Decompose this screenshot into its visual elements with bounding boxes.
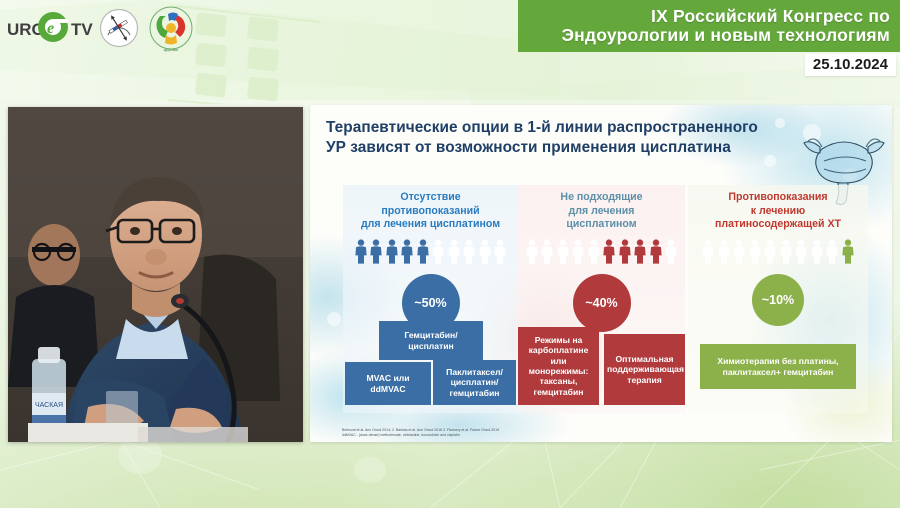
person-icon bbox=[571, 239, 585, 264]
person-icon bbox=[385, 239, 399, 264]
box-mvac: MVAC или ddMVAC bbox=[345, 362, 431, 405]
person-icon bbox=[717, 239, 731, 264]
column-2-heading-line-1: Не подходящие bbox=[518, 191, 685, 205]
person-icon bbox=[664, 239, 678, 264]
person-icon bbox=[431, 239, 445, 264]
person-icon bbox=[462, 239, 476, 264]
person-icon bbox=[701, 239, 715, 264]
person-icon bbox=[633, 239, 647, 264]
date-badge: 25.10.2024 bbox=[805, 54, 896, 76]
slide-footnote: Bellmunt et al. Ann Oncol 2014; 2. Bamia… bbox=[342, 428, 672, 438]
person-icon bbox=[354, 239, 368, 264]
person-icon bbox=[556, 239, 570, 264]
person-icon bbox=[779, 239, 793, 264]
person-icon bbox=[447, 239, 461, 264]
svg-text:e: e bbox=[47, 20, 54, 37]
slide-title: Терапевтические опции в 1-й линии распро… bbox=[326, 118, 826, 159]
column-no-contraindications: Отсутствие противопоказаний для лечения … bbox=[343, 185, 518, 413]
column-3-heading-line-3: платиносодержащей ХТ bbox=[688, 218, 868, 232]
presentation-screenshot: URO e TV здоровье IX Российский Конгресс… bbox=[0, 0, 900, 508]
person-icon bbox=[763, 239, 777, 264]
banner-line-1: IX Российский Конгресс по bbox=[651, 7, 890, 26]
person-icon bbox=[732, 239, 746, 264]
column-1-heading-line-3: для лечения цисплатином bbox=[343, 218, 518, 232]
russian-society-logo bbox=[99, 8, 139, 48]
column-1-heading-line-2: противопоказаний bbox=[343, 205, 518, 219]
svg-text:TV: TV bbox=[71, 20, 93, 39]
svg-text:ЧАСКАЯ: ЧАСКАЯ bbox=[35, 402, 63, 409]
slide-title-line-1: Терапевтические опции в 1-й линии распро… bbox=[326, 118, 826, 138]
column-platinum-contraindicated: Противопоказания к лечению платиносодерж… bbox=[688, 185, 868, 413]
column-3-heading: Противопоказания к лечению платиносодерж… bbox=[688, 185, 868, 232]
box-carboplatin-mono: Режимы на карбоплатине или монорежимы: т… bbox=[518, 327, 599, 405]
column-1-heading: Отсутствие противопоказаний для лечения … bbox=[343, 185, 518, 232]
person-icon bbox=[540, 239, 554, 264]
column-1-heading-line-1: Отсутствие bbox=[343, 191, 518, 205]
banner-line-2: Эндоурологии и новым технологиям bbox=[562, 26, 890, 45]
column-3-people-icons bbox=[688, 238, 868, 264]
person-icon bbox=[748, 239, 762, 264]
column-2-people-icons bbox=[518, 238, 685, 264]
urotv-logo: URO e TV bbox=[6, 10, 94, 46]
column-1-people-icons bbox=[343, 238, 518, 264]
person-icon bbox=[810, 239, 824, 264]
column-2-heading-line-2: для лечения bbox=[518, 205, 685, 219]
person-icon bbox=[416, 239, 430, 264]
congress-banner: IX Российский Конгресс по Эндоурологии и… bbox=[518, 0, 900, 52]
column-2-percent-badge: ~40% bbox=[573, 274, 631, 332]
column-3-heading-line-1: Противопоказания bbox=[688, 191, 868, 205]
column-3-heading-line-2: к лечению bbox=[688, 205, 868, 219]
box-pac-cis-gem: Паклитаксел/ цисплатин/ гемцитабин bbox=[433, 360, 516, 405]
slide-title-line-2: УР зависят от возможности применения цис… bbox=[326, 138, 826, 158]
footnote-abbreviation: ddMVAC - (dose-dense) methotrexate, vinb… bbox=[342, 433, 672, 438]
column-2-heading: Не подходящие для лечения цисплатином bbox=[518, 185, 685, 232]
person-icon bbox=[602, 239, 616, 264]
childrens-health-logo: здоровье bbox=[146, 4, 196, 52]
column-3-percent-badge: ~10% bbox=[752, 274, 804, 326]
person-icon bbox=[400, 239, 414, 264]
box-gem-cis: Гемцитабин/ цисплатин bbox=[379, 321, 483, 360]
column-2-heading-line-3: цисплатином bbox=[518, 218, 685, 232]
person-icon bbox=[794, 239, 808, 264]
box-nonplatinum-chemo: Химиотерапия без платины, паклитаксел+ г… bbox=[700, 344, 856, 389]
person-icon bbox=[649, 239, 663, 264]
person-icon bbox=[493, 239, 507, 264]
person-icon bbox=[618, 239, 632, 264]
person-icon bbox=[841, 239, 855, 264]
svg-text:здоровье: здоровье bbox=[164, 48, 179, 52]
box-best-supportive-care: Оптимальная поддерживающая терапия bbox=[604, 334, 685, 405]
person-icon bbox=[587, 239, 601, 264]
person-icon bbox=[525, 239, 539, 264]
person-icon bbox=[825, 239, 839, 264]
presentation-slide: Терапевтические опции в 1-й линии распро… bbox=[310, 105, 892, 442]
person-icon bbox=[478, 239, 492, 264]
comparison-columns: Отсутствие противопоказаний для лечения … bbox=[310, 185, 892, 413]
speaker-photo: ЧАСКАЯ bbox=[8, 107, 303, 442]
column-unfit-for-cisplatin: Не подходящие для лечения цисплатином ~4… bbox=[518, 185, 685, 413]
person-icon bbox=[369, 239, 383, 264]
